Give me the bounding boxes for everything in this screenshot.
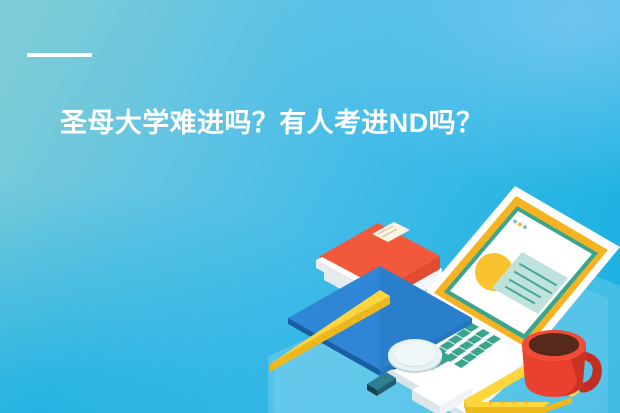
accent-rule — [27, 53, 92, 57]
illustration-isometric-study-desk — [268, 168, 620, 413]
page-title: 圣母大学难进吗？有人考进ND吗？ — [60, 104, 560, 142]
banner-card: 圣母大学难进吗？有人考进ND吗？ — [0, 0, 620, 413]
